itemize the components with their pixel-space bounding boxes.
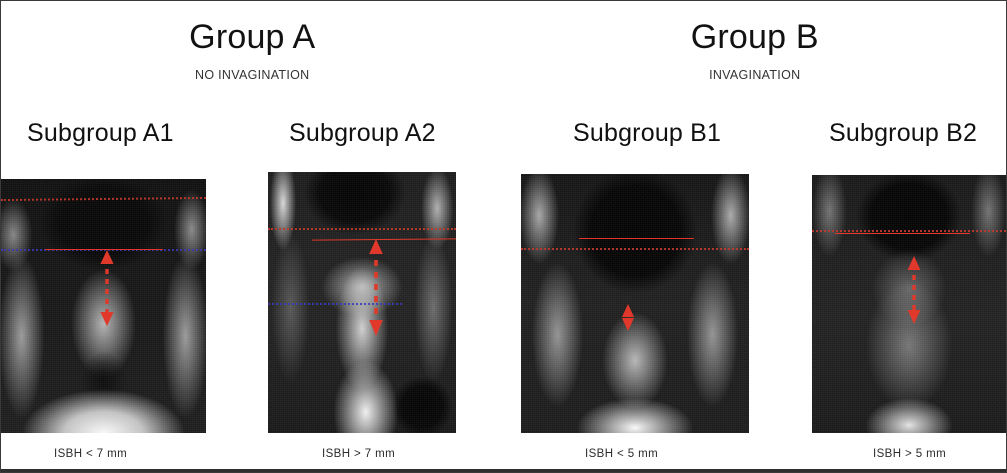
caption-a2: ISBH > 7 mm — [322, 448, 395, 460]
subgroup-title-a1: Subgroup A1 — [27, 119, 174, 148]
cbct-panel-a2 — [268, 172, 456, 433]
group-b-subtitle: INVAGINATION — [504, 68, 1007, 82]
isbh-measurement-arrow-b1 — [617, 304, 639, 332]
group-a-title: Group A — [1, 20, 504, 56]
caption-b1: ISBH < 5 mm — [585, 448, 658, 460]
subgroup-title-b1: Subgroup B1 — [573, 119, 721, 148]
cbct-panel-b2 — [812, 175, 1006, 433]
group-b-title: Group B — [504, 20, 1007, 56]
subgroup-title-b2: Subgroup B2 — [829, 119, 977, 148]
group-a-subtitle: NO INVAGINATION — [1, 68, 504, 82]
group-header-a: Group A NO INVAGINATION — [1, 1, 504, 82]
isbh-measurement-arrow-b2 — [903, 255, 925, 325]
cbct-panel-b1 — [521, 174, 749, 433]
isbh-measurement-arrow-a1 — [96, 249, 118, 327]
cbct-panel-a1 — [1, 179, 206, 433]
upper-reference-line-a2 — [268, 228, 456, 230]
isbh-measurement-arrow-a2 — [365, 238, 387, 337]
upper-reference-line-b2 — [812, 230, 1006, 232]
subgroup-title-a2: Subgroup A2 — [289, 119, 436, 148]
sinus-floor-line-b1 — [579, 238, 694, 239]
caption-b2: ISBH > 5 mm — [873, 448, 946, 460]
upper-reference-line-b1 — [521, 248, 749, 250]
cbct-subgroup-figure: Group A NO INVAGINATION Group B INVAGINA… — [0, 0, 1007, 473]
sinus-floor-line-b2 — [835, 233, 970, 234]
group-header-b: Group B INVAGINATION — [504, 1, 1007, 82]
figure-bottom-rule — [1, 469, 1006, 472]
caption-a1: ISBH < 7 mm — [54, 448, 127, 460]
